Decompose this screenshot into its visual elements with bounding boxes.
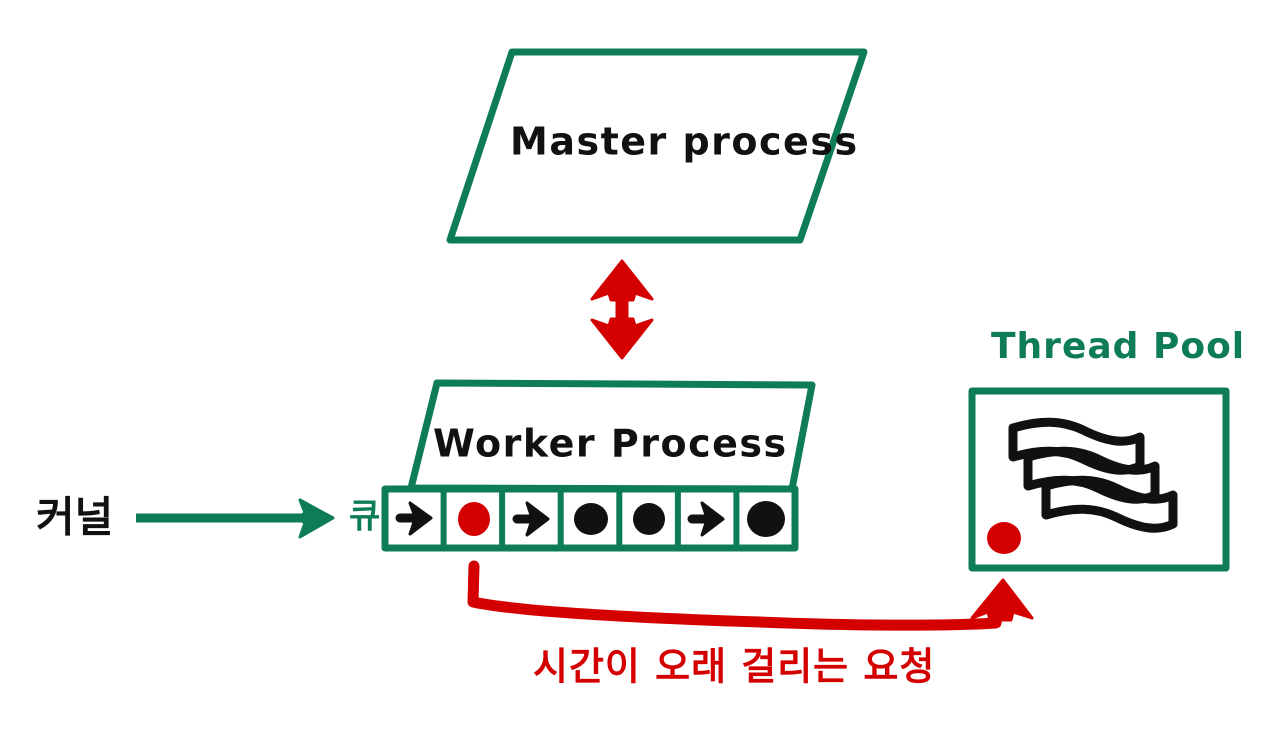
kernel-group: 커널 [36,493,113,542]
queue-to-threadpool-arrow [473,566,1032,625]
long-request-caption: 시간이 오래 걸리는 요청 [533,645,935,689]
redirect-arrow-head [972,580,1032,620]
queue-cell-3[interactable] [574,503,608,535]
thread-pool-label: Thread Pool [991,326,1245,367]
double-arrow-head-down [592,319,652,358]
diagram-svg: Master process Worker Process 커널 큐 [0,0,1280,750]
dot-icon [747,501,785,537]
queue-cell-4[interactable] [633,503,665,535]
kernel-to-queue-arrow [136,500,333,537]
worker-process-node[interactable]: Worker Process [411,383,812,489]
queue-cell-1[interactable] [458,502,490,536]
redirect-path [473,566,1000,625]
queue-row[interactable] [385,489,795,548]
thread-pool-red-dot [987,522,1021,554]
double-arrow-head-up [592,261,652,300]
master-process-node[interactable]: Master process [450,52,864,240]
queue-label: 큐 [349,497,380,537]
worker-process-label: Worker Process [433,422,788,466]
queue-cell-6[interactable] [747,501,785,537]
dot-icon [574,503,608,535]
master-process-label: Master process [510,120,859,164]
dot-icon [633,503,665,535]
dot-icon [458,502,490,536]
kernel-label: 커널 [36,493,113,542]
kernel-arrow-head [297,500,333,537]
thread-pool-node[interactable]: Thread Pool [972,326,1245,568]
diagram-canvas: Master process Worker Process 커널 큐 [0,0,1280,750]
master-worker-double-arrow [592,261,652,358]
